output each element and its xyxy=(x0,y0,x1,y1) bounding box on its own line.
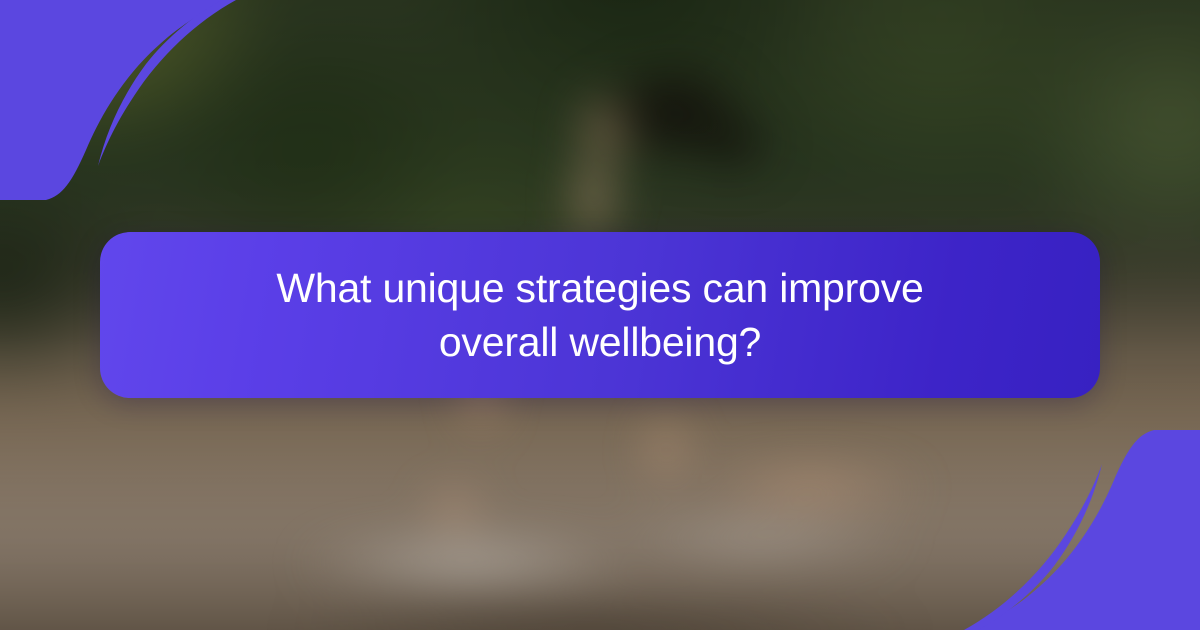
question-text: What unique strategies can improve overa… xyxy=(228,261,971,369)
question-card[interactable]: What unique strategies can improve overa… xyxy=(100,232,1100,398)
share-card-canvas: What unique strategies can improve overa… xyxy=(0,0,1200,630)
